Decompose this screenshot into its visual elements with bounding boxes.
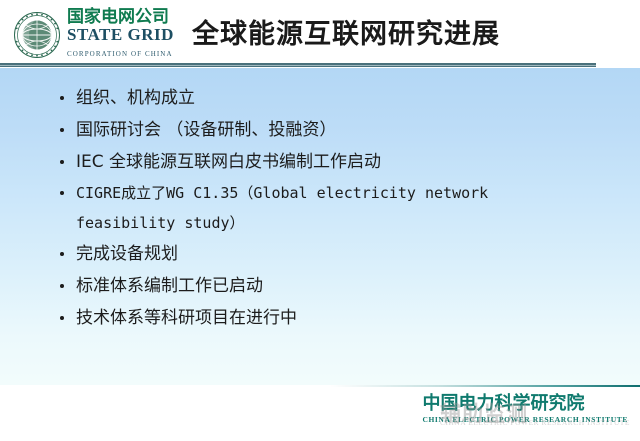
- list-item: 标准体系编制工作已启动: [0, 270, 640, 302]
- cepri-logo: 中国电力科学研究院 CHINA ELECTRIC POWER RESEARCH …: [422, 395, 628, 424]
- slide-header: 国家电网公司 STATE GRID CORPORATION OF CHINA 全…: [0, 0, 640, 66]
- state-grid-logo-text: 国家电网公司 STATE GRID CORPORATION OF CHINA: [67, 9, 174, 60]
- list-item: 完成设备规划: [0, 238, 640, 270]
- list-item: CIGRE成立了WG C1.35（Global electricity netw…: [0, 178, 640, 208]
- list-item: IEC 全球能源互联网白皮书编制工作启动: [0, 146, 640, 178]
- list-item: 技术体系等科研项目在进行中: [0, 302, 640, 334]
- bullet-list: 组织、机构成立 国际研讨会 （设备研制、投融资） IEC 全球能源互联网白皮书编…: [0, 68, 640, 334]
- slide-footer: 中国电力科学研究院 CHINA ELECTRIC POWER RESEARCH …: [0, 385, 640, 441]
- brand-name-cn: 国家电网公司: [67, 7, 169, 27]
- state-grid-globe-emblem-icon: [13, 11, 61, 59]
- state-grid-logo: 国家电网公司 STATE GRID CORPORATION OF CHINA: [13, 9, 174, 60]
- brand-name-sub: CORPORATION OF CHINA: [67, 50, 173, 58]
- list-item-continuation: feasibility study）: [0, 208, 640, 238]
- list-item: 组织、机构成立: [0, 82, 640, 114]
- slide-body: 组织、机构成立 国际研讨会 （设备研制、投融资） IEC 全球能源互联网白皮书编…: [0, 68, 640, 385]
- page-title: 全球能源互联网研究进展: [192, 12, 500, 51]
- footer-org-name-en: CHINA ELECTRIC POWER RESEARCH INSTITUTE: [422, 416, 628, 424]
- list-item: 国际研讨会 （设备研制、投融资）: [0, 114, 640, 146]
- header-divider-light: [0, 65, 596, 66]
- brand-name-en: STATE GRID: [67, 25, 174, 44]
- footer-divider: [330, 385, 640, 387]
- slide-root: 国家电网公司 STATE GRID CORPORATION OF CHINA 全…: [0, 0, 640, 441]
- footer-org-name-cn: 中国电力科学研究院: [422, 395, 628, 413]
